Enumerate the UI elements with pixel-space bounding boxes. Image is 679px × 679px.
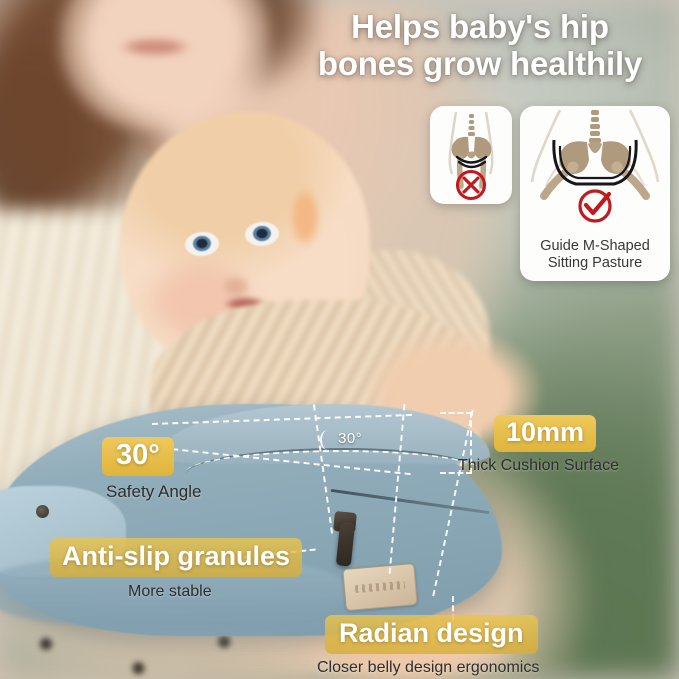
angle-arc-icon: [320, 430, 336, 450]
callout-safety-angle: 30° Safety Angle: [102, 437, 201, 502]
mother-lips: [118, 37, 192, 57]
caption-line-1: Guide M-Shaped: [520, 238, 670, 256]
carrier-strap-stud: [36, 505, 49, 518]
baby-nose: [221, 272, 251, 296]
headline-line-1: Helps baby's hip: [286, 8, 674, 45]
cushion-thickness-subtitle: Thick Cushion Surface: [458, 457, 619, 475]
cushion-thickness-badge: 10mm: [494, 415, 596, 452]
safety-angle-subtitle: Safety Angle: [106, 482, 201, 502]
incorrect-posture-panel: [430, 106, 512, 204]
caption-line-2: Sitting Pasture: [520, 255, 670, 273]
callout-radian-design: Radian design Closer belly design ergono…: [325, 615, 539, 677]
anti-slip-badge: Anti-slip granules: [50, 538, 302, 577]
baby-ear: [288, 186, 322, 248]
correct-posture-panel: Guide M-Shaped Sitting Pasture: [520, 106, 670, 281]
headline-line-2: bones grow healthily: [286, 45, 674, 82]
narrow-seat-pelvis-diagram: [430, 106, 512, 204]
page-title: Helps baby's hip bones grow healthily: [286, 8, 674, 83]
anti-slip-subtitle: More stable: [128, 583, 302, 601]
infographic-canvas: 30° Helps baby's hip bones grow healthil…: [0, 0, 679, 679]
angle-tick-label: 30°: [338, 430, 362, 447]
radian-design-badge: Radian design: [325, 615, 538, 654]
m-shaped-pelvis-diagram: [520, 106, 670, 226]
callout-anti-slip: Anti-slip granules More stable: [50, 538, 302, 601]
callout-cushion-thickness: 10mm Thick Cushion Surface: [494, 415, 619, 475]
safety-angle-badge: 30°: [102, 437, 174, 476]
radian-design-subtitle: Closer belly design ergonomics: [317, 659, 539, 677]
carrier-brand-patch: [342, 563, 417, 611]
correct-posture-caption: Guide M-Shaped Sitting Pasture: [520, 238, 670, 273]
